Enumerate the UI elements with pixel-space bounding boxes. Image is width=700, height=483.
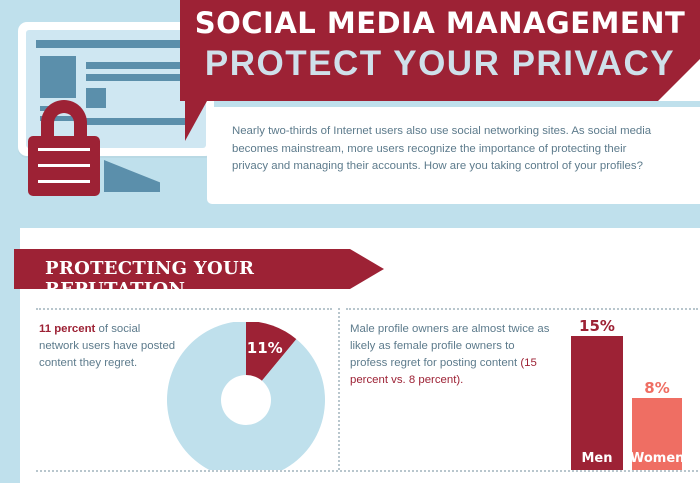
donut-hole [221,375,271,425]
bar-label-women: Women [630,451,684,466]
left-stat-highlight: 11 percent [39,323,95,335]
section-title: PROTECTING YOUR REPUTATION [45,258,384,300]
profile-avatar-block [40,56,76,98]
padlock-body [28,136,100,196]
section-banner: PROTECTING YOUR REPUTATION [14,249,384,289]
donut-chart: 11% [167,322,325,470]
profile-line-5 [86,118,190,125]
donut-value-label: 11% [247,339,283,357]
gender-bar-chart: 15% Men 8% Women [560,318,692,470]
profile-line-2 [86,74,190,81]
padlock-line-1 [38,148,90,151]
padlock-line-3 [38,180,90,183]
left-stat-text: 11 percent of social network users have … [39,321,179,372]
padlock-line-2 [38,164,90,167]
intro-paragraph: Nearly two-thirds of Internet users also… [232,123,662,176]
profile-line-1 [86,62,190,69]
page-title-secondary: PROTECT YOUR PRIVACY [180,44,700,84]
page-title-primary: SOCIAL MEDIA MANAGEMENT [180,6,700,40]
bar-label-men: Men [571,451,623,466]
bar-men: Men [571,336,623,470]
title-banner: SOCIAL MEDIA MANAGEMENT PROTECT YOUR PRI… [180,0,700,101]
bar-women: Women [632,398,682,470]
divider-vertical [338,308,340,470]
divider-top-right [346,308,698,310]
divider-bottom [36,470,698,472]
right-stat-text: Male profile owners are almost twice as … [350,321,555,389]
intro-card: Nearly two-thirds of Internet users also… [207,107,700,204]
donut-chart-svg: 11% [167,322,325,470]
padlock-icon [28,100,100,196]
divider-top-left [36,308,332,310]
infographic-canvas: SOCIAL MEDIA MANAGEMENT PROTECT YOUR PRI… [0,0,700,483]
bar-value-men: 15% [571,317,623,335]
bar-value-women: 8% [632,379,682,397]
profile-header-bar [36,40,196,48]
